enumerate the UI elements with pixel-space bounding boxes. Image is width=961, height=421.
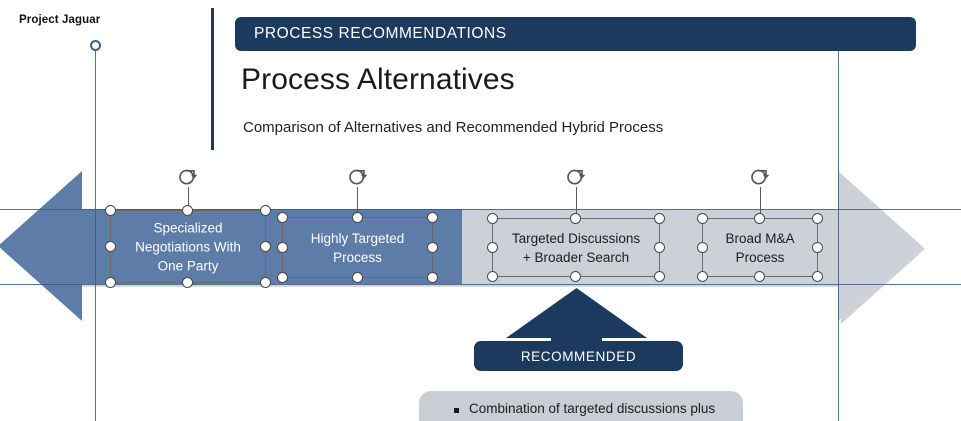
up-arrow-icon (506, 288, 647, 344)
resize-handle[interactable] (654, 242, 665, 253)
resize-handle[interactable] (427, 212, 438, 223)
bullet-text: Combination of targeted discussions plus (469, 401, 715, 416)
page-title: Process Alternatives (241, 63, 515, 97)
resize-handle[interactable] (105, 205, 116, 216)
resize-handle[interactable] (260, 205, 271, 216)
vertical-guide-right[interactable] (838, 50, 839, 421)
resize-handle[interactable] (105, 241, 116, 252)
resize-handle[interactable] (487, 213, 498, 224)
resize-handle[interactable] (352, 272, 363, 283)
arrow-head-right (838, 171, 922, 321)
resize-handle[interactable] (427, 242, 438, 253)
resize-handle[interactable] (277, 272, 288, 283)
resize-handle[interactable] (812, 242, 823, 253)
recommendation-card: Combination of targeted discussions plus (419, 391, 743, 421)
resize-handle[interactable] (487, 271, 498, 282)
project-label: Project Jaguar (19, 14, 100, 26)
spectrum-box-4[interactable]: Broad M&A Process (702, 218, 818, 277)
square-bullet-icon (454, 408, 459, 413)
spectrum-box-1[interactable]: Specialized Negotiations With One Party (110, 210, 266, 283)
resize-handle[interactable] (697, 271, 708, 282)
resize-handle[interactable] (105, 277, 116, 288)
resize-handle[interactable] (182, 205, 193, 216)
rotate-handle-icon[interactable] (565, 167, 587, 189)
guide-handle-left-icon[interactable] (90, 40, 101, 51)
resize-handle[interactable] (570, 271, 581, 282)
page-subtitle: Comparison of Alternatives and Recommend… (243, 119, 663, 136)
rotate-handle-icon[interactable] (749, 167, 771, 189)
resize-handle[interactable] (260, 241, 271, 252)
section-eyebrow-text: PROCESS RECOMMENDATIONS (235, 25, 507, 43)
resize-handle[interactable] (277, 212, 288, 223)
resize-handle[interactable] (697, 242, 708, 253)
vertical-guide-left[interactable] (95, 50, 96, 421)
spectrum-box-2[interactable]: Highly Targeted Process (282, 217, 433, 278)
resize-handle[interactable] (260, 277, 271, 288)
horizontal-guide-bottom[interactable] (0, 284, 961, 285)
section-eyebrow-banner: PROCESS RECOMMENDATIONS (235, 17, 916, 51)
resize-handle[interactable] (277, 242, 288, 253)
resize-handle[interactable] (182, 277, 193, 288)
spectrum-box-3[interactable]: Targeted Discussions + Broader Search (492, 218, 660, 277)
recommended-label: RECOMMENDED (521, 349, 636, 364)
resize-handle[interactable] (812, 213, 823, 224)
resize-handle[interactable] (427, 272, 438, 283)
spectrum-box-3-label: Targeted Discussions + Broader Search (493, 229, 659, 267)
resize-handle[interactable] (352, 212, 363, 223)
bullet-row: Combination of targeted discussions plus (454, 401, 715, 416)
spectrum-box-2-label: Highly Targeted Process (283, 229, 432, 267)
resize-handle[interactable] (754, 271, 765, 282)
resize-handle[interactable] (487, 242, 498, 253)
spectrum-box-4-label: Broad M&A Process (703, 229, 817, 267)
title-accent-rule (211, 8, 214, 150)
resize-handle[interactable] (754, 213, 765, 224)
spectrum-box-1-label: Specialized Negotiations With One Party (111, 218, 265, 275)
resize-handle[interactable] (654, 271, 665, 282)
slide-canvas: Project Jaguar PROCESS RECOMMENDATIONS P… (0, 0, 961, 421)
recommended-badge: RECOMMENDED (474, 341, 683, 371)
resize-handle[interactable] (654, 213, 665, 224)
resize-handle[interactable] (812, 271, 823, 282)
rotate-handle-icon[interactable] (347, 167, 369, 189)
resize-handle[interactable] (697, 213, 708, 224)
rotate-handle-icon[interactable] (177, 167, 199, 189)
resize-handle[interactable] (570, 213, 581, 224)
